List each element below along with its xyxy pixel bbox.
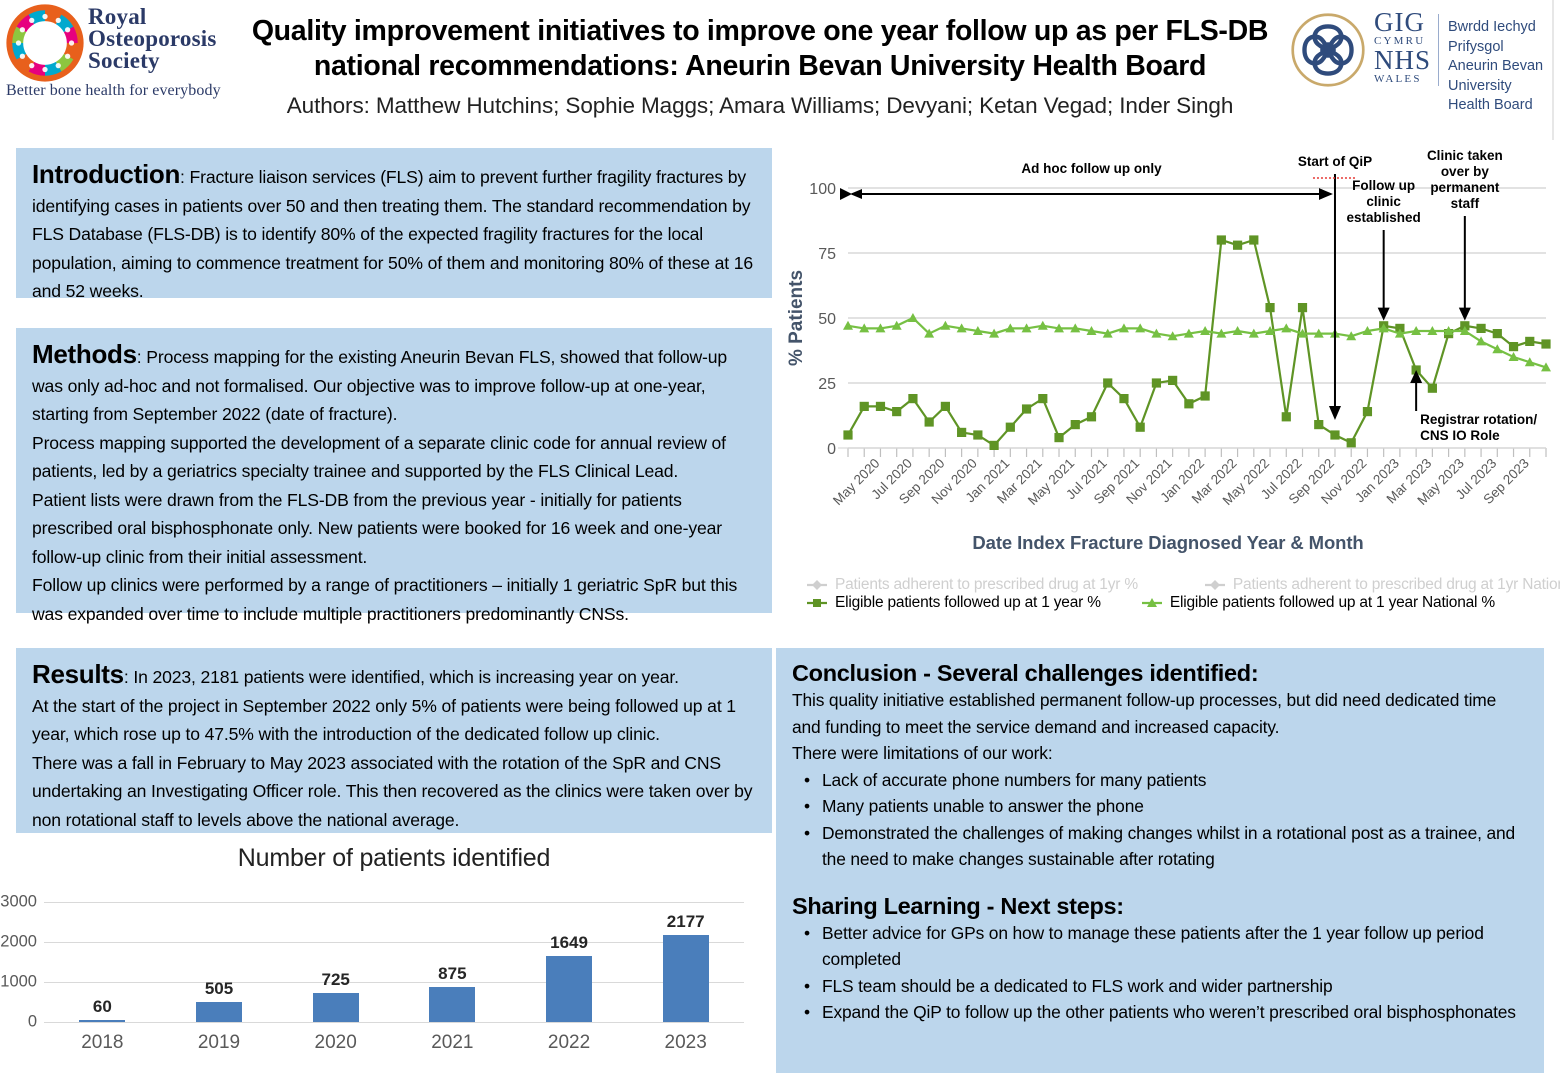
conclusion-bullet-item: Many patients unable to answer the phone (792, 793, 1528, 820)
sharing-learning-bullet-list: Better advice for GPs on how to manage t… (792, 920, 1528, 1026)
annotation-follow-up-line2: clinic (1366, 194, 1401, 209)
poster-header: Royal Osteoporosis Society Better bone h… (0, 0, 1560, 140)
bar-chart-x-tick-label: 2019 (161, 1032, 278, 1054)
conclusion-bullet-item: Demonstrated the challenges of making ch… (792, 820, 1528, 873)
legend-item[interactable]: Patients adherent to prescribed drug at … (806, 576, 1138, 594)
annotation-registrar-line1: Registrar rotation/ (1420, 412, 1537, 427)
annotation-start-of-qip-label: Start of QiP (1298, 154, 1372, 169)
data-point-marker (843, 430, 852, 439)
introduction-colon: : (180, 167, 185, 187)
data-point-marker (1152, 378, 1161, 387)
line-chart-y-tick-label: 25 (818, 376, 836, 393)
bar-chart-plot-area: 0100020003000 6050572587516492177 (44, 902, 744, 1022)
line-series-4 (843, 313, 1551, 371)
data-point-marker (1541, 339, 1550, 348)
annotation-clinic-taken-line2: over by (1441, 164, 1490, 179)
data-point-marker (1493, 329, 1502, 338)
data-point-marker (1022, 404, 1031, 413)
results-paragraph-2: At the start of the project in September… (32, 692, 756, 749)
legend-marker-diamond-icon (806, 578, 828, 592)
bar-value-label: 725 (321, 970, 349, 990)
data-point-marker (1217, 235, 1226, 244)
legend-row: Eligible patients followed up at 1 year … (780, 594, 1556, 612)
bar-rect[interactable] (663, 935, 709, 1022)
bar-chart-x-tick-label: 2022 (511, 1032, 628, 1054)
bar-chart-column[interactable]: 505 (161, 902, 278, 1022)
data-point-marker (973, 430, 982, 439)
bar-value-label: 875 (438, 964, 466, 984)
data-point-marker (1201, 391, 1210, 400)
bar-chart-column[interactable]: 725 (277, 902, 394, 1022)
annotation-follow-up-line3: established (1347, 210, 1421, 225)
data-point-marker (1087, 412, 1096, 421)
bar-chart-x-tick-label: 2021 (394, 1032, 511, 1054)
bar-chart-column[interactable]: 2177 (627, 902, 744, 1022)
data-point-marker (1476, 324, 1485, 333)
bar-chart-column[interactable]: 60 (44, 902, 161, 1022)
methods-heading: Methods (32, 339, 137, 369)
legend-item[interactable]: Eligible patients followed up at 1 year … (806, 594, 1101, 612)
data-point-marker (908, 394, 917, 403)
data-point-marker (1428, 384, 1437, 393)
sharing-bullet-item: Expand the QiP to follow up the other pa… (792, 999, 1528, 1026)
legend-label: Eligible patients followed up at 1 year … (835, 594, 1101, 612)
gig-text: GIG (1374, 10, 1432, 35)
data-point-marker (1054, 433, 1063, 442)
data-point-marker (1476, 336, 1486, 345)
ros-tagline: Better bone health for everybody (6, 82, 221, 100)
bar-chart-y-tick-label: 1000 (0, 973, 37, 992)
bar-chart-y-tick-label: 0 (28, 1013, 37, 1032)
ros-word-line2: Osteoporosis (88, 28, 217, 50)
methods-paragraph-2: Process mapping supported the developmen… (32, 429, 756, 486)
data-point-marker (1071, 420, 1080, 429)
data-point-marker (860, 402, 869, 411)
introduction-heading: Introduction (32, 159, 180, 189)
data-point-marker (1249, 235, 1258, 244)
data-point-marker (1103, 378, 1112, 387)
bar-value-label: 2177 (667, 912, 705, 932)
legend-label: Eligible patients followed up at 1 year … (1170, 594, 1495, 612)
annotation-clinic-taken-line4: staff (1451, 196, 1480, 211)
data-point-marker (1184, 399, 1193, 408)
results-panel: Results: In 2023, 2181 patients were ide… (16, 648, 772, 833)
line-chart-y-tick-label: 0 (827, 441, 836, 458)
bar-chart-column[interactable]: 875 (394, 902, 511, 1022)
line-chart-x-axis-title: Date Index Fracture Diagnosed Year & Mon… (776, 532, 1560, 554)
sharing-bullet-item: FLS team should be a dedicated to FLS wo… (792, 973, 1528, 1000)
data-point-marker (1363, 407, 1372, 416)
data-point-marker (1282, 412, 1291, 421)
data-point-marker (989, 441, 998, 450)
line-chart-legend: Patients adherent to prescribed drug at … (780, 576, 1556, 612)
data-point-marker (1330, 430, 1339, 439)
bar-chart-x-tick-label: 2018 (44, 1032, 161, 1054)
bar-rect[interactable] (546, 956, 592, 1022)
conclusion-heading: Conclusion - Several challenges identifi… (792, 660, 1528, 687)
logo-divider (1438, 14, 1439, 86)
line-chart-y-tick-label: 100 (809, 181, 836, 198)
legend-label: Patients adherent to prescribed drug at … (1233, 576, 1560, 594)
legend-marker-triangle-icon (1141, 596, 1163, 610)
data-point-marker (1038, 394, 1047, 403)
line-chart-svg: 0255075100% PatientsMay 2020Jul 2020Sep … (776, 148, 1560, 528)
follow-up-rate-line-chart: 0255075100% PatientsMay 2020Jul 2020Sep … (776, 148, 1560, 638)
conclusion-panel: Conclusion - Several challenges identifi… (776, 648, 1544, 1073)
results-heading: Results (32, 659, 124, 689)
methods-colon: : (137, 347, 142, 367)
nhs-wales-aneurin-bevan-logo: GIG CYMRU NHS WALES Bwrdd Iechyd Prifysg… (1286, 4, 1556, 96)
data-point-marker (1168, 376, 1177, 385)
conclusion-bullet-item: Lack of accurate phone numbers for many … (792, 767, 1528, 794)
header-edge-rule (1552, 0, 1554, 140)
methods-panel: Methods: Process mapping for the existin… (16, 328, 772, 613)
ros-wordmark: Royal Osteoporosis Society (88, 6, 217, 72)
results-colon: : (124, 667, 129, 687)
gridline (44, 1022, 744, 1023)
data-point-marker (1509, 342, 1518, 351)
data-point-marker (925, 417, 934, 426)
data-point-marker (1006, 423, 1015, 432)
conclusion-paragraph-1: This quality initiative established perm… (792, 687, 1528, 740)
legend-marker-diamond-icon (1204, 578, 1226, 592)
data-point-marker (1265, 303, 1274, 312)
bar-chart-title: Number of patients identified (16, 844, 772, 873)
data-point-marker (1136, 423, 1145, 432)
conclusion-bullet-list: Lack of accurate phone numbers for many … (792, 767, 1528, 873)
data-point-marker (941, 402, 950, 411)
bar-value-label: 1649 (550, 933, 588, 953)
health-board-name: Bwrdd Iechyd Prifysgol Aneurin Bevan Uni… (1448, 18, 1556, 116)
legend-item[interactable]: Patients adherent to prescribed drug at … (1204, 576, 1560, 594)
bar-chart-columns: 6050572587516492177 (44, 902, 744, 1022)
patients-identified-bar-chart: Number of patients identified 0100020003… (16, 840, 772, 1080)
annotation-qip-arrow-head (1329, 406, 1341, 420)
sharing-bullet-item: Better advice for GPs on how to manage t… (792, 920, 1528, 973)
data-point-marker (1119, 394, 1128, 403)
data-point-marker (957, 428, 966, 437)
ros-word-line1: Royal (88, 6, 217, 28)
results-paragraph-1: In 2023, 2181 patients were identified, … (133, 667, 679, 687)
annotation-registrar-line2: CNS IO Role (1420, 428, 1500, 443)
bar-rect[interactable] (313, 993, 359, 1022)
bar-rect[interactable] (79, 1020, 125, 1022)
bar-chart-x-tick-label: 2020 (277, 1032, 394, 1054)
bar-value-label: 505 (205, 979, 233, 999)
bar-chart-x-axis-labels: 201820192020202120222023 (44, 1032, 744, 1054)
legend-item[interactable]: Eligible patients followed up at 1 year … (1141, 594, 1495, 612)
bar-value-label: 60 (93, 997, 112, 1017)
health-board-line2: Aneurin Bevan (1448, 57, 1556, 77)
nhs-gig-wordmark: GIG CYMRU NHS WALES (1374, 10, 1432, 86)
legend-label: Patients adherent to prescribed drug at … (835, 576, 1138, 594)
data-point-marker (1298, 303, 1307, 312)
bar-rect[interactable] (196, 1002, 242, 1022)
annotation-arrow-left-head (850, 189, 862, 199)
nhs-wales-knot-icon (1286, 8, 1370, 92)
annotation-ad-hoc-label: Ad hoc follow up only (1021, 161, 1162, 176)
line-chart-y-axis-title: % Patients (786, 270, 807, 366)
bar-chart-x-tick-label: 2023 (627, 1032, 744, 1054)
nhs-text: NHS (1374, 48, 1432, 73)
health-board-line1: Bwrdd Iechyd Prifysgol (1448, 18, 1556, 57)
royal-osteoporosis-society-logo: Royal Osteoporosis Society Better bone h… (4, 2, 236, 98)
sharing-learning-heading: Sharing Learning - Next steps: (792, 893, 1528, 920)
bar-chart-column[interactable]: 1649 (511, 902, 628, 1022)
ros-ring-icon (6, 4, 84, 82)
annotation-clinic-taken-line1: Clinic taken (1427, 148, 1503, 163)
data-point-marker (1233, 241, 1242, 250)
line-chart-x-tick-label: May 2020 (830, 456, 883, 509)
bar-chart-y-tick-label: 2000 (0, 933, 37, 952)
data-point-marker (876, 402, 885, 411)
line-chart-y-tick-label: 50 (818, 311, 836, 328)
bar-chart-y-tick-label: 3000 (0, 893, 37, 912)
introduction-panel: Introduction: Fracture liaison services … (16, 148, 772, 298)
bar-rect[interactable] (429, 987, 475, 1022)
line-chart-y-tick-label: 75 (818, 246, 836, 263)
annotation-arrow-right-head (1321, 189, 1333, 199)
methods-paragraph-3: Patient lists were drawn from the FLS-DB… (32, 486, 756, 572)
annotation-clinic-taken-line3: permanent (1430, 180, 1500, 195)
methods-paragraph-4: Follow up clinics were performed by a ra… (32, 571, 756, 628)
annotation-follow-up-line1: Follow up (1352, 178, 1415, 193)
legend-row: Patients adherent to prescribed drug at … (780, 576, 1556, 594)
conclusion-paragraph-2: There were limitations of our work: (792, 740, 1528, 767)
data-point-marker (1525, 337, 1534, 346)
data-point-marker (1314, 420, 1323, 429)
data-point-marker (892, 407, 901, 416)
page-title: Quality improvement initiatives to impro… (236, 14, 1284, 84)
authors-line: Authors: Matthew Hutchins; Sophie Maggs;… (236, 93, 1284, 119)
title-block: Quality improvement initiatives to impro… (236, 14, 1284, 119)
legend-marker-square-icon (806, 596, 828, 610)
results-paragraph-3: There was a fall in February to May 2023… (32, 749, 756, 835)
health-board-line3: University Health Board (1448, 77, 1556, 116)
data-point-marker (1347, 438, 1356, 447)
ros-word-line3: Society (88, 50, 217, 72)
